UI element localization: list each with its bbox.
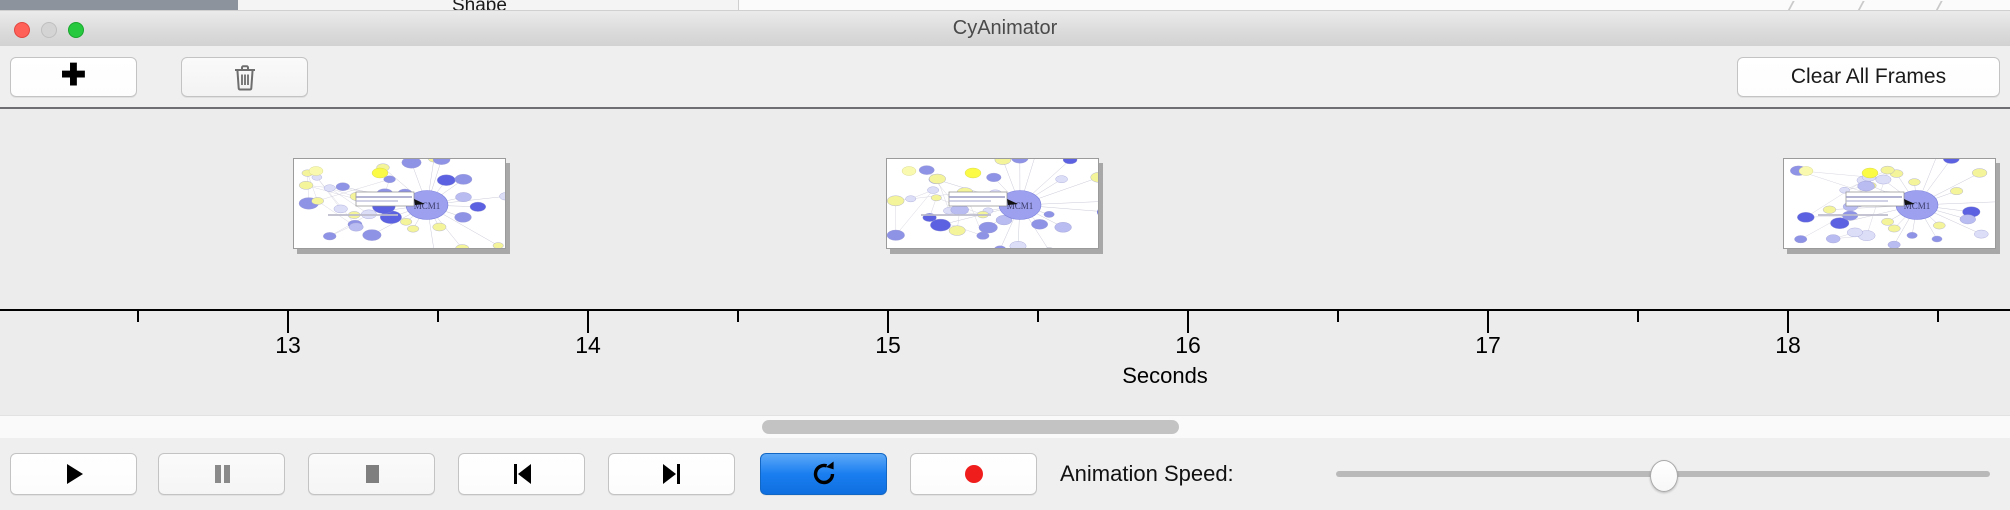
axis-tick-minor xyxy=(1337,311,1339,322)
next-frame-button[interactable] xyxy=(608,453,735,495)
axis-tick-major xyxy=(1487,311,1489,333)
title-bar: CyAnimator xyxy=(0,11,2010,47)
axis-tick-minor xyxy=(1037,311,1039,322)
previous-frame-button[interactable] xyxy=(458,453,585,495)
record-button[interactable] xyxy=(910,453,1037,495)
play-icon xyxy=(60,460,88,488)
stop-button[interactable] xyxy=(308,453,435,495)
background-window-strip: Shape xyxy=(0,0,2010,11)
stop-icon xyxy=(358,460,386,488)
trash-icon xyxy=(233,64,257,91)
skip-back-icon xyxy=(508,460,536,488)
axis-tick-label: 12 xyxy=(0,332,1,359)
animation-speed-label: Animation Speed: xyxy=(1060,453,1234,495)
delete-frame-button[interactable] xyxy=(181,57,308,97)
record-icon xyxy=(960,460,988,488)
loop-button[interactable] xyxy=(760,453,887,495)
axis-tick-label: 14 xyxy=(575,332,601,359)
timeline-scrollbar-thumb[interactable] xyxy=(762,420,1179,434)
network-thumbnail-graphic: MCM1 xyxy=(887,159,1099,249)
animation-speed-slider[interactable] xyxy=(1336,453,1990,495)
axis-tick-minor xyxy=(137,311,139,322)
frame-thumbnail[interactable]: MCM1 xyxy=(1783,158,1996,249)
axis-tick-minor xyxy=(437,311,439,322)
axis-tick-minor xyxy=(737,311,739,322)
pause-button[interactable] xyxy=(158,453,285,495)
axis-tick-label: 17 xyxy=(1475,332,1501,359)
axis-tick-major xyxy=(1187,311,1189,333)
axis-tick-major xyxy=(587,311,589,333)
axis-tick-label: 15 xyxy=(875,332,901,359)
axis-line xyxy=(0,309,2010,311)
timeline-scrollbar[interactable] xyxy=(0,415,2010,439)
frame-thumbnail[interactable]: MCM1 xyxy=(886,158,1099,249)
play-button[interactable] xyxy=(10,453,137,495)
playback-control-bar: Animation Speed: xyxy=(0,438,2010,510)
skip-forward-icon xyxy=(658,460,686,488)
axis-tick-minor xyxy=(1937,311,1939,322)
timeline-axis: 12131415161718 Seconds xyxy=(0,305,2010,415)
axis-tick-label: 13 xyxy=(275,332,301,359)
axis-tick-label: 16 xyxy=(1175,332,1201,359)
timeline-frame[interactable]: MCM1 xyxy=(1783,158,2000,254)
axis-tick-major xyxy=(887,311,889,333)
network-thumbnail-graphic: MCM1 xyxy=(1784,159,1996,249)
network-thumbnail-graphic: MCM1 xyxy=(294,159,506,249)
window-title: CyAnimator xyxy=(0,11,2010,46)
frame-thumbnail[interactable]: MCM1 xyxy=(293,158,506,249)
slider-thumb[interactable] xyxy=(1650,460,1678,492)
timeline-panel[interactable]: MCM1 MCM1 MCM1 xyxy=(0,109,2010,310)
plus-icon: ✚ xyxy=(61,61,86,91)
cyanimator-window: Shape CyAnimator ✚ Clear All Frames xyxy=(0,0,2010,510)
toolbar: ✚ Clear All Frames xyxy=(0,46,2010,108)
clear-all-frames-button[interactable]: Clear All Frames xyxy=(1737,57,2000,97)
add-frame-button[interactable]: ✚ xyxy=(10,57,137,97)
timeline-frame[interactable]: MCM1 xyxy=(293,158,510,254)
pause-icon xyxy=(208,460,236,488)
axis-tick-major xyxy=(287,311,289,333)
axis-tick-minor xyxy=(1637,311,1639,322)
loop-icon xyxy=(809,459,839,489)
axis-tick-label: 18 xyxy=(1775,332,1801,359)
axis-tick-major xyxy=(1787,311,1789,333)
timeline-frame[interactable]: MCM1 xyxy=(886,158,1103,254)
axis-title: Seconds xyxy=(1122,363,1208,389)
